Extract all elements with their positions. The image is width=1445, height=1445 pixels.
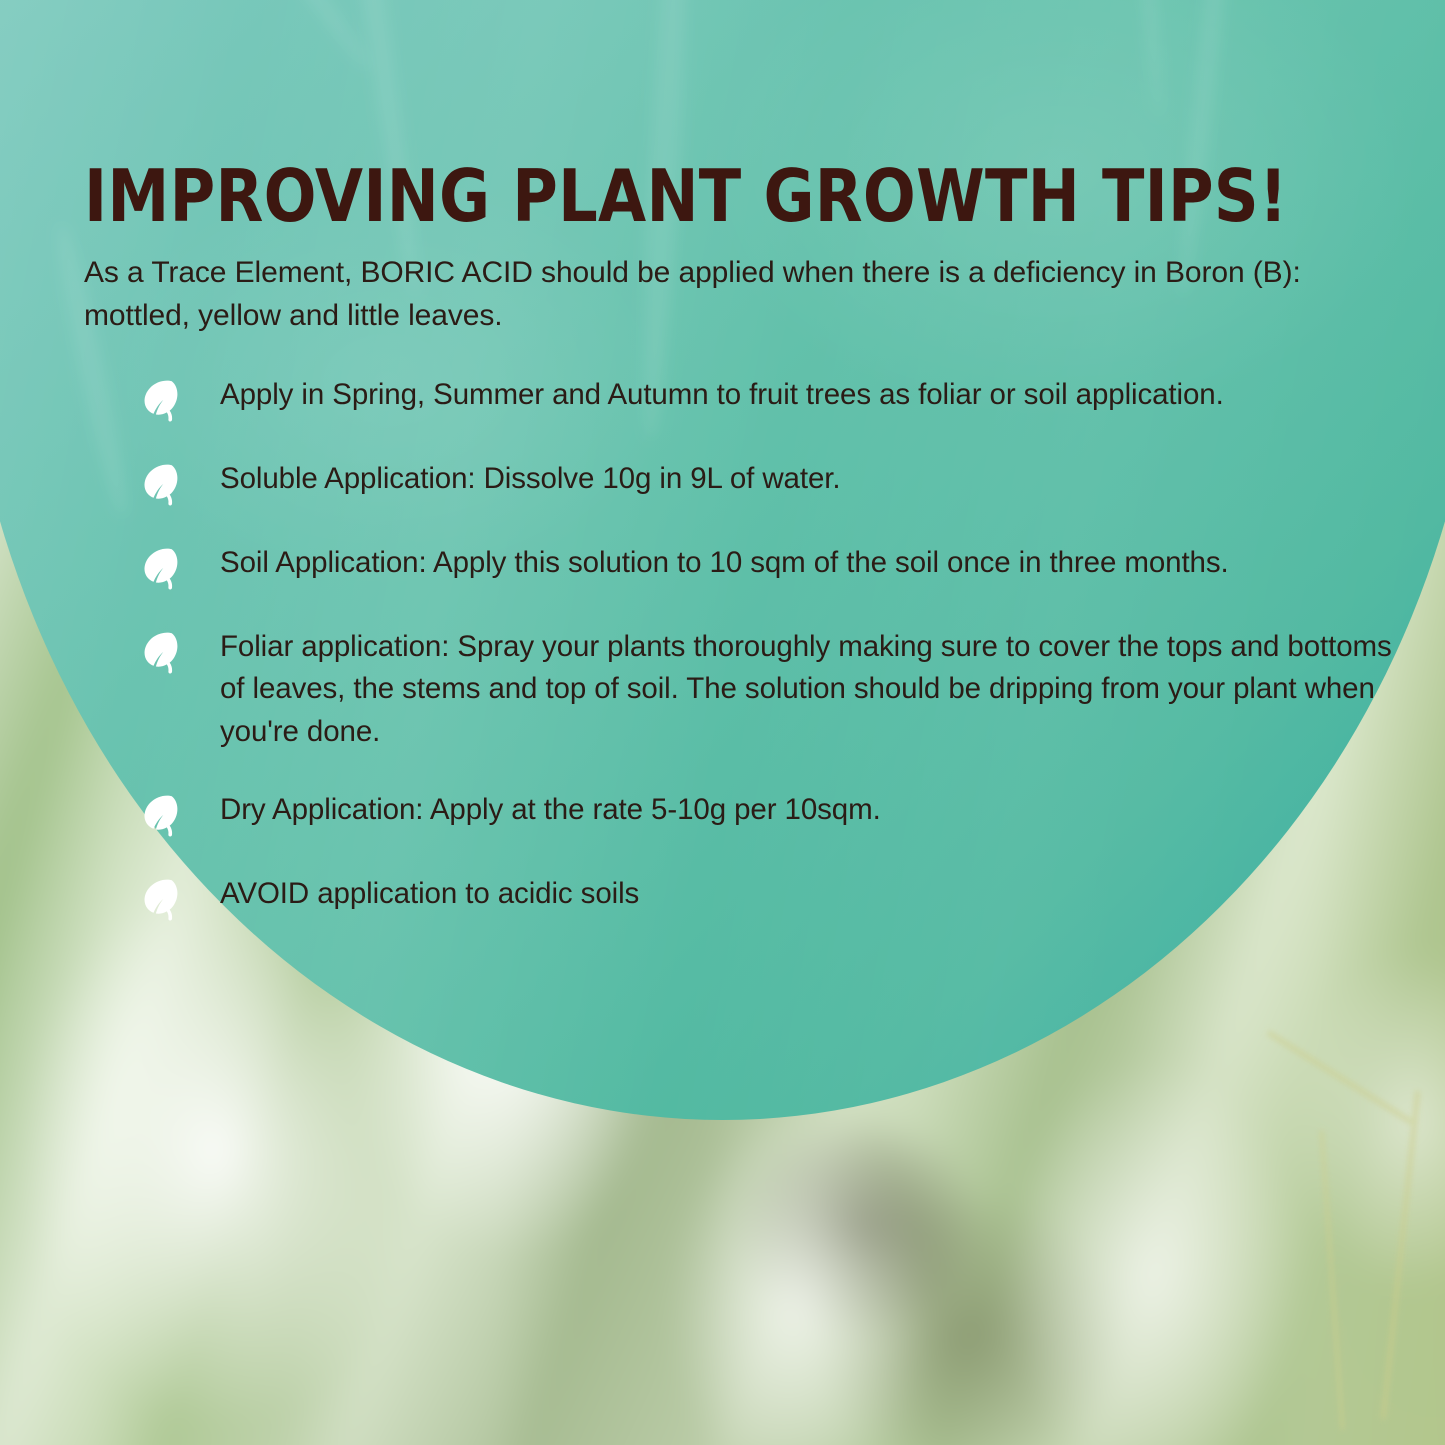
leaf-icon — [140, 630, 182, 674]
list-item-label: Soil Application: Apply this solution to… — [220, 540, 1410, 584]
list-item-label: AVOID application to acidic soils — [220, 871, 1410, 915]
intro-paragraph: As a Trace Element, BORIC ACID should be… — [84, 252, 1394, 337]
list-item: AVOID application to acidic soils — [140, 871, 1410, 921]
list-item: Apply in Spring, Summer and Autumn to fr… — [140, 372, 1410, 422]
leaf-icon — [140, 793, 182, 837]
poster-canvas: IMPROVING PLANT GROWTH TIPS! As a Trace … — [0, 0, 1445, 1445]
list-item: Foliar application: Spray your plants th… — [140, 624, 1410, 753]
list-item-label: Soluble Application: Dissolve 10g in 9L … — [220, 456, 1410, 500]
list-item-label: Dry Application: Apply at the rate 5-10g… — [220, 787, 1410, 831]
leaf-vein-streak — [1090, 0, 1169, 119]
leaf-icon — [140, 462, 182, 506]
leaf-icon — [140, 378, 182, 422]
list-item: Soil Application: Apply this solution to… — [140, 540, 1410, 590]
leaf-vein-streak — [245, 0, 376, 74]
list-item: Dry Application: Apply at the rate 5-10g… — [140, 787, 1410, 837]
leaf-icon — [140, 546, 182, 590]
page-title: IMPROVING PLANT GROWTH TIPS! — [84, 160, 1288, 232]
list-item-label: Foliar application: Spray your plants th… — [220, 624, 1410, 753]
leaf-icon — [140, 877, 182, 921]
tips-list: Apply in Spring, Summer and Autumn to fr… — [140, 372, 1410, 921]
list-item: Soluble Application: Dissolve 10g in 9L … — [140, 456, 1410, 506]
list-item-label: Apply in Spring, Summer and Autumn to fr… — [220, 372, 1410, 416]
